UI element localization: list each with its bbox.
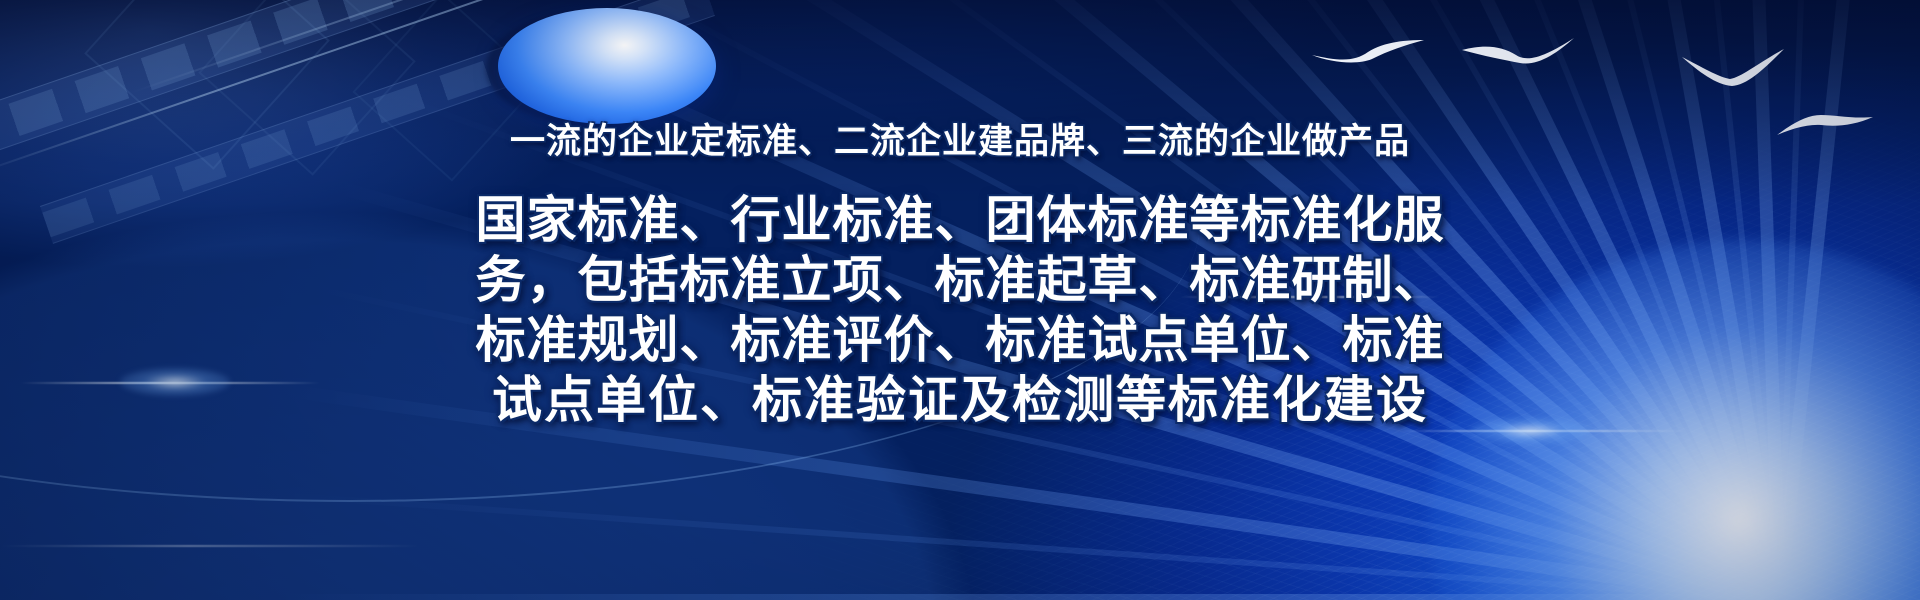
promo-banner: 一流的企业定标准、二流企业建品牌、三流的企业做产品 国家标准、行业标准、团体标准… [0, 0, 1920, 600]
banner-headline: 一流的企业定标准、二流企业建品牌、三流的企业做产品 [510, 113, 1410, 164]
banner-body: 国家标准、行业标准、团体标准等标准化服 务，包括标准立项、标准起草、标准研制、 … [445, 190, 1475, 430]
banner-body-line-1: 国家标准、行业标准、团体标准等标准化服 [445, 190, 1475, 250]
banner-body-line-3: 标准规划、标准评价、标准试点单位、标准 [445, 310, 1475, 370]
banner-body-line-4: 试点单位、标准验证及检测等标准化建设 [445, 370, 1475, 430]
banner-body-line-2: 务，包括标准立项、标准起草、标准研制、 [445, 250, 1475, 310]
text-content: 一流的企业定标准、二流企业建品牌、三流的企业做产品 国家标准、行业标准、团体标准… [0, 0, 1920, 600]
